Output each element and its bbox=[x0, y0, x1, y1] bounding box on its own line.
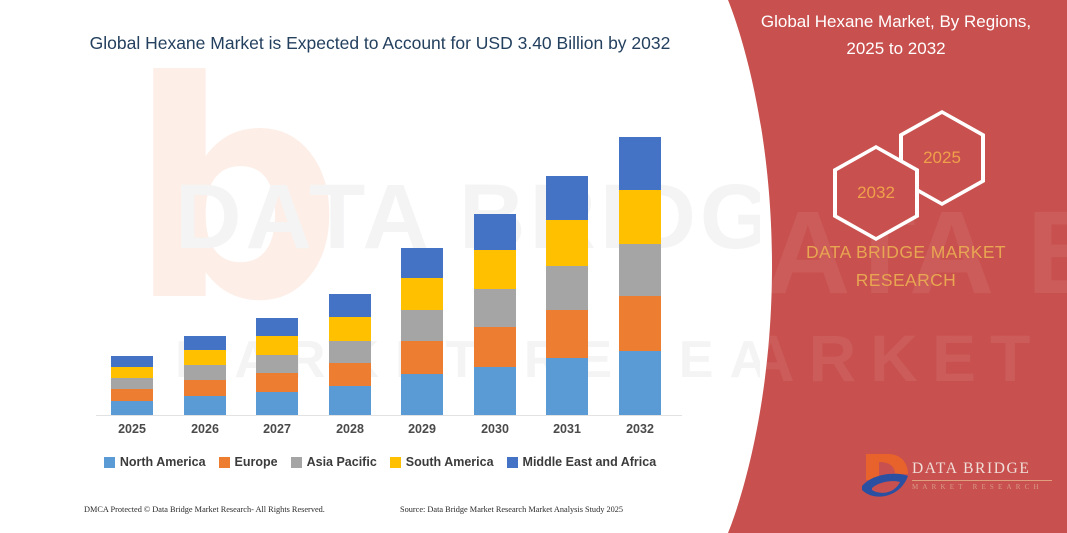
x-axis-labels: 20252026202720282029203020312032 bbox=[96, 422, 676, 446]
bar-segment-europe bbox=[111, 389, 153, 401]
bar-segment-south-america bbox=[619, 190, 661, 244]
bar-segment-north-america bbox=[474, 367, 516, 416]
chart-legend: North AmericaEuropeAsia PacificSouth Ame… bbox=[0, 455, 760, 469]
bar-segment-asia-pacific bbox=[474, 289, 516, 327]
legend-swatch-icon bbox=[291, 457, 302, 468]
brand-line-1: DATA BRIDGE MARKET bbox=[756, 238, 1056, 266]
bar-column-2027 bbox=[256, 318, 298, 416]
bar-segment-europe bbox=[256, 373, 298, 392]
legend-swatch-icon bbox=[390, 457, 401, 468]
brand-name-text: DATA BRIDGE MARKET RESEARCH bbox=[756, 238, 1056, 294]
bar-segment-middle-east-and-africa bbox=[111, 356, 153, 367]
hexagon-badge-2032: 2032 bbox=[833, 145, 919, 241]
legend-item-middle-east-and-africa[interactable]: Middle East and Africa bbox=[507, 455, 657, 469]
plot-area bbox=[96, 110, 676, 416]
legend-swatch-icon bbox=[104, 457, 115, 468]
bar-segment-south-america bbox=[329, 317, 371, 341]
bar-segment-north-america bbox=[256, 392, 298, 416]
legend-item-south-america[interactable]: South America bbox=[390, 455, 494, 469]
footer-copyright: DMCA Protected © Data Bridge Market Rese… bbox=[84, 505, 325, 514]
hexagon-2025-label: 2025 bbox=[923, 148, 961, 168]
bar-segment-middle-east-and-africa bbox=[474, 214, 516, 250]
bar-segment-europe bbox=[546, 310, 588, 358]
legend-label: Middle East and Africa bbox=[523, 455, 657, 469]
bar-column-2029 bbox=[401, 248, 443, 416]
bar-segment-asia-pacific bbox=[256, 355, 298, 373]
legend-item-europe[interactable]: Europe bbox=[219, 455, 278, 469]
footer-source: Source: Data Bridge Market Research Mark… bbox=[400, 505, 623, 514]
logo-name: DATA BRIDGE bbox=[912, 460, 1062, 478]
bar-segment-north-america bbox=[111, 401, 153, 416]
databridge-b-logo-icon bbox=[860, 452, 910, 504]
bar-segment-north-america bbox=[184, 396, 226, 416]
bar-segment-north-america bbox=[619, 351, 661, 416]
x-axis-tick-2027: 2027 bbox=[247, 422, 307, 436]
x-axis-tick-2030: 2030 bbox=[465, 422, 525, 436]
x-axis-tick-2031: 2031 bbox=[537, 422, 597, 436]
brand-line-2: RESEARCH bbox=[756, 266, 1056, 294]
bar-segment-asia-pacific bbox=[619, 244, 661, 296]
logo-wordmark: DATA BRIDGE MARKET RESEARCH bbox=[912, 460, 1062, 491]
logo-subtitle: MARKET RESEARCH bbox=[912, 483, 1062, 491]
bar-segment-middle-east-and-africa bbox=[401, 248, 443, 278]
bar-segment-north-america bbox=[546, 358, 588, 416]
chart-title: Global Hexane Market is Expected to Acco… bbox=[60, 30, 700, 57]
bar-segment-middle-east-and-africa bbox=[329, 294, 371, 317]
bar-segment-middle-east-and-africa bbox=[256, 318, 298, 336]
legend-item-north-america[interactable]: North America bbox=[104, 455, 206, 469]
bar-segment-asia-pacific bbox=[111, 378, 153, 389]
legend-label: Asia Pacific bbox=[307, 455, 377, 469]
bar-segment-south-america bbox=[256, 336, 298, 355]
databridge-logo: DATA BRIDGE MARKET RESEARCH bbox=[860, 452, 1060, 510]
legend-label: North America bbox=[120, 455, 206, 469]
bar-segment-asia-pacific bbox=[401, 310, 443, 341]
x-axis-tick-2029: 2029 bbox=[392, 422, 452, 436]
bar-segment-asia-pacific bbox=[329, 341, 371, 363]
bar-segment-north-america bbox=[329, 386, 371, 416]
bar-segment-north-america bbox=[401, 374, 443, 416]
bar-segment-europe bbox=[401, 341, 443, 374]
legend-swatch-icon bbox=[507, 457, 518, 468]
bar-column-2031 bbox=[546, 176, 588, 416]
bar-segment-middle-east-and-africa bbox=[619, 137, 661, 190]
x-axis-tick-2032: 2032 bbox=[610, 422, 670, 436]
x-axis-tick-2025: 2025 bbox=[102, 422, 162, 436]
bar-segment-europe bbox=[329, 363, 371, 386]
bar-segment-middle-east-and-africa bbox=[546, 176, 588, 220]
bar-segment-middle-east-and-africa bbox=[184, 336, 226, 350]
bar-segment-europe bbox=[474, 327, 516, 367]
bar-column-2025 bbox=[111, 356, 153, 416]
bar-column-2028 bbox=[329, 294, 371, 416]
bar-segment-south-america bbox=[401, 278, 443, 310]
bar-segment-south-america bbox=[546, 220, 588, 266]
bar-segment-south-america bbox=[474, 250, 516, 289]
right-panel-title: Global Hexane Market, By Regions, 2025 t… bbox=[740, 8, 1052, 62]
bar-segment-europe bbox=[619, 296, 661, 351]
x-axis-tick-2028: 2028 bbox=[320, 422, 380, 436]
legend-item-asia-pacific[interactable]: Asia Pacific bbox=[291, 455, 377, 469]
legend-label: South America bbox=[406, 455, 494, 469]
bar-column-2026 bbox=[184, 336, 226, 416]
legend-swatch-icon bbox=[219, 457, 230, 468]
bar-segment-europe bbox=[184, 380, 226, 396]
x-axis-line bbox=[96, 415, 682, 416]
bar-segment-south-america bbox=[111, 367, 153, 378]
chart-panel: b DATA BRIDGE MARKET RESEARCH Global Hex… bbox=[0, 0, 760, 533]
bar-segment-asia-pacific bbox=[546, 266, 588, 310]
chart-footer: DMCA Protected © Data Bridge Market Rese… bbox=[0, 505, 760, 527]
bar-segment-south-america bbox=[184, 350, 226, 365]
x-axis-tick-2026: 2026 bbox=[175, 422, 235, 436]
hexagon-2032-label: 2032 bbox=[857, 183, 895, 203]
logo-divider bbox=[912, 480, 1052, 481]
legend-label: Europe bbox=[235, 455, 278, 469]
bar-column-2030 bbox=[474, 214, 516, 416]
bar-segment-asia-pacific bbox=[184, 365, 226, 380]
bar-column-2032 bbox=[619, 137, 661, 416]
